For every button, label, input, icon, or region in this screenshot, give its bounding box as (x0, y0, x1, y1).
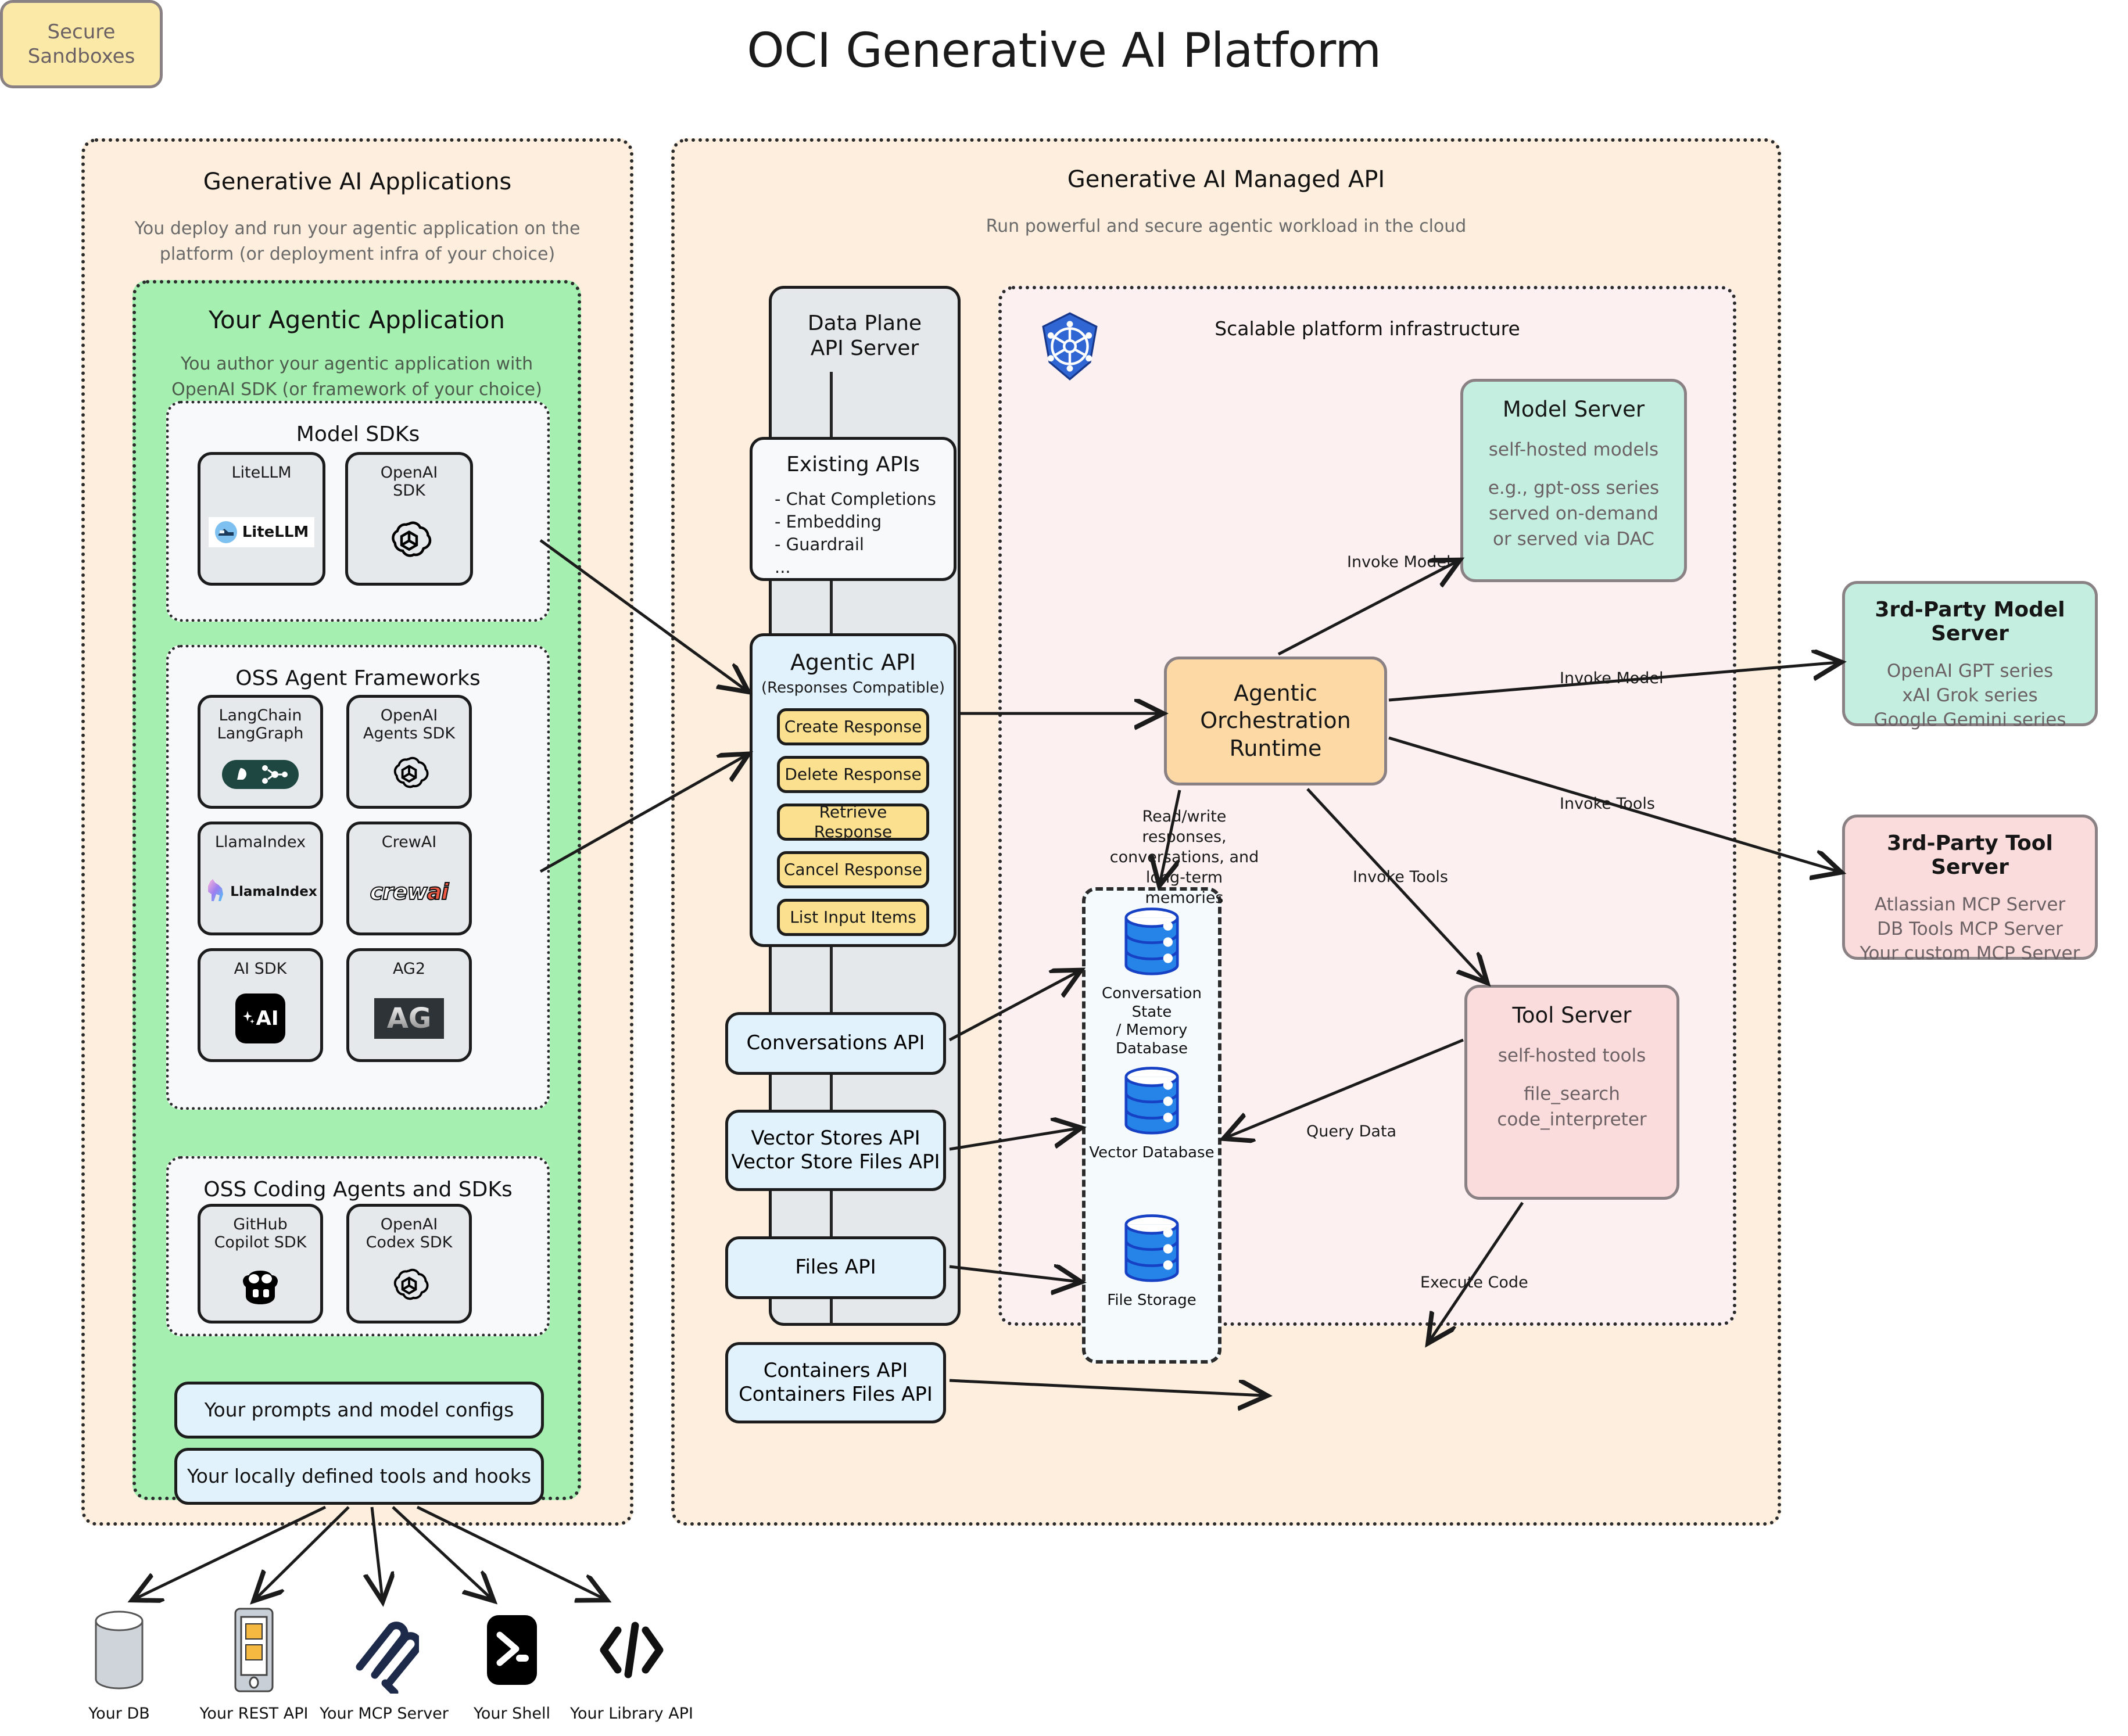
consumer-your-rest-api[interactable]: Your REST API (187, 1604, 321, 1723)
database-cylinder-icon (52, 1604, 186, 1696)
edge-label-invoke-tools-third: Invoke Tools (1560, 795, 1655, 813)
consumer-label: Your MCP Server (317, 1705, 451, 1723)
file-storage[interactable]: File Storage (1086, 1214, 1218, 1310)
db-caption: Conversation State / Memory Database (1086, 985, 1218, 1059)
third-party-model-server-title: 3rd-Party Model Server (1845, 598, 2095, 645)
create-response-button[interactable]: Create Response (777, 708, 929, 745)
consumer-your-shell[interactable]: Your Shell (445, 1604, 579, 1723)
model-server-box[interactable]: Model Server self-hosted models e.g., gp… (1460, 379, 1687, 582)
tool-server-line2: file_search code_interpreter (1497, 1081, 1646, 1132)
model-server-line1: self-hosted models (1489, 437, 1658, 462)
edge-label-query-data: Query Data (1306, 1122, 1396, 1140)
openai-logo-icon (348, 500, 470, 583)
third-party-tool-server-title: 3rd-Party Tool Server (1845, 831, 2095, 879)
tile-label: OpenAI Codex SDK (366, 1216, 453, 1252)
oss-frameworks-title: OSS Agent Frameworks (169, 666, 547, 690)
consumer-your-library-api[interactable]: Your Library API (565, 1604, 698, 1723)
conversations-api-box[interactable]: Conversations API (725, 1012, 946, 1075)
list-item: ... (775, 556, 936, 579)
retrieve-response-button[interactable]: Retrieve Response (777, 804, 929, 841)
model-server-line2: e.g., gpt-oss series served on-demand or… (1488, 475, 1659, 552)
mcp-logo-icon (317, 1604, 451, 1696)
infra-title: Scalable platform infrastructure (1002, 317, 1733, 340)
tile-label: AG2 (393, 960, 425, 978)
llamaindex-logo-icon: LlamaIndex (200, 852, 320, 932)
consumer-label: Your DB (52, 1705, 186, 1723)
tile-label: GitHub Copilot SDK (214, 1216, 307, 1252)
edge-label-execute-code: Execute Code (1420, 1274, 1528, 1292)
third-party-tool-server-body: Atlassian MCP Server DB Tools MCP Server… (1860, 893, 2080, 966)
tile-litellm[interactable]: LiteLLM LiteLLM (198, 452, 325, 586)
agentic-api-title: Agentic API (790, 649, 916, 676)
database-icon (1117, 1066, 1186, 1140)
database-icon (1117, 907, 1186, 981)
agentic-api-subtitle: (Responses Compatible) (761, 679, 945, 698)
managed-panel-title: Generative AI Managed API (675, 166, 1778, 193)
tile-openai-sdk[interactable]: OpenAI SDK (345, 452, 473, 586)
list-item: - Chat Completions (775, 488, 936, 511)
edge-label-invoke-model-self: Invoke Model (1347, 553, 1451, 571)
crewai-logo-icon: crewai (349, 852, 469, 932)
openai-logo-icon (349, 1252, 469, 1321)
vector-stores-api-box[interactable]: Vector Stores API Vector Store Files API (725, 1110, 946, 1191)
tile-label: CrewAI (382, 834, 437, 852)
tile-langchain-langgraph[interactable]: LangChain LangGraph (198, 695, 323, 809)
langchain-logo-icon (200, 743, 320, 806)
tool-server-box[interactable]: Tool Server self-hosted tools file_searc… (1464, 985, 1679, 1200)
tile-github-copilot-sdk[interactable]: GitHub Copilot SDK (198, 1204, 323, 1323)
apps-panel-subtitle: You deploy and run your agentic applicat… (85, 216, 630, 267)
db-caption: File Storage (1086, 1292, 1218, 1310)
existing-apis-list: - Chat Completions - Embedding - Guardra… (775, 488, 936, 578)
agentic-app-title: Your Agentic Application (136, 306, 578, 334)
page-title: OCI Generative AI Platform (0, 23, 2128, 78)
tile-label: LiteLLM (231, 464, 291, 482)
tile-ai-sdk[interactable]: AI SDK AI (198, 948, 323, 1062)
tile-label: LlamaIndex (215, 834, 306, 852)
oss-coding-title: OSS Coding Agents and SDKs (169, 1178, 547, 1201)
tile-label: OpenAI Agents SDK (363, 707, 455, 743)
diagram-canvas: OCI Generative AI Platform Generative AI… (0, 0, 2128, 1736)
agentic-api-box: Agentic API (Responses Compatible) Creat… (750, 633, 956, 947)
files-api-box[interactable]: Files API (725, 1236, 946, 1299)
edge-label-invoke-model-third: Invoke Model (1560, 669, 1664, 687)
tool-server-title: Tool Server (1513, 1003, 1632, 1028)
tile-openai-agents-sdk[interactable]: OpenAI Agents SDK (346, 695, 472, 809)
cancel-response-button[interactable]: Cancel Response (777, 851, 929, 888)
github-copilot-logo-icon (200, 1252, 320, 1321)
kubernetes-icon (1038, 311, 1102, 381)
litellm-logo-icon: LiteLLM (200, 482, 323, 583)
existing-apis-box[interactable]: Existing APIs - Chat Completions - Embed… (750, 437, 956, 581)
mobile-device-icon (187, 1604, 321, 1696)
tile-label: AI SDK (234, 960, 287, 978)
third-party-model-server-body: OpenAI GPT series xAI Grok series Google… (1874, 659, 2066, 733)
managed-panel-subtitle: Run powerful and secure agentic workload… (675, 214, 1778, 239)
storage-cluster: Conversation State / Memory Database Vec… (1082, 887, 1221, 1364)
consumer-label: Your REST API (187, 1705, 321, 1723)
edge-label-invoke-tools-self: Invoke Tools (1353, 868, 1448, 886)
tile-ag2[interactable]: AG2 AG (346, 948, 472, 1062)
terminal-icon (445, 1604, 579, 1696)
data-plane-title: Data Plane API Server (772, 311, 958, 361)
consumer-your-mcp-server[interactable]: Your MCP Server (317, 1604, 451, 1723)
ag2-logo-icon: AG (349, 978, 469, 1059)
delete-response-button[interactable]: Delete Response (777, 756, 929, 793)
tile-label: LangChain LangGraph (217, 707, 304, 743)
vercel-ai-logo-icon: AI (200, 978, 320, 1059)
agentic-orchestration-runtime-box[interactable]: Agentic Orchestration Runtime (1164, 657, 1387, 785)
agentic-app-subtitle: You author your agentic application with… (136, 351, 578, 402)
consumer-label: Your Shell (445, 1705, 579, 1723)
database-icon (1117, 1214, 1186, 1288)
prompts-and-model-configs-bar[interactable]: Your prompts and model configs (174, 1382, 544, 1439)
vector-db[interactable]: Vector Database (1086, 1066, 1218, 1163)
tool-server-line1: self-hosted tools (1498, 1043, 1646, 1068)
third-party-model-server-box[interactable]: 3rd-Party Model Server OpenAI GPT series… (1842, 581, 2098, 726)
model-server-title: Model Server (1503, 397, 1645, 422)
existing-apis-title: Existing APIs (753, 452, 954, 478)
list-item: - Embedding (775, 511, 936, 533)
consumer-label: Your Library API (565, 1705, 698, 1723)
db-caption: Vector Database (1086, 1144, 1218, 1163)
apps-panel-title: Generative AI Applications (85, 168, 630, 195)
tile-openai-codex-sdk[interactable]: OpenAI Codex SDK (346, 1204, 472, 1323)
tile-label: OpenAI SDK (381, 464, 438, 500)
list-item: - Guardrail (775, 533, 936, 556)
openai-logo-icon (349, 743, 469, 806)
model-sdks-title: Model SDKs (169, 422, 547, 446)
third-party-tool-server-box[interactable]: 3rd-Party Tool Server Atlassian MCP Serv… (1842, 815, 2098, 960)
containers-api-box[interactable]: Containers API Containers Files API (725, 1342, 946, 1423)
consumer-your-db[interactable]: Your DB (52, 1604, 186, 1723)
edge-label-read-write: Read/write responses, conversations, and… (1109, 806, 1260, 908)
conversation-state-db[interactable]: Conversation State / Memory Database (1086, 907, 1218, 1059)
code-brackets-icon (565, 1604, 698, 1696)
tile-llamaindex[interactable]: LlamaIndex LlamaIndex (198, 822, 323, 935)
orchestration-runtime-title: Agentic Orchestration Runtime (1200, 680, 1350, 762)
tile-crewai[interactable]: CrewAI crewai (346, 822, 472, 935)
locally-defined-tools-and-hooks-bar[interactable]: Your locally defined tools and hooks (174, 1448, 544, 1505)
list-input-items-button[interactable]: List Input Items (777, 899, 929, 936)
